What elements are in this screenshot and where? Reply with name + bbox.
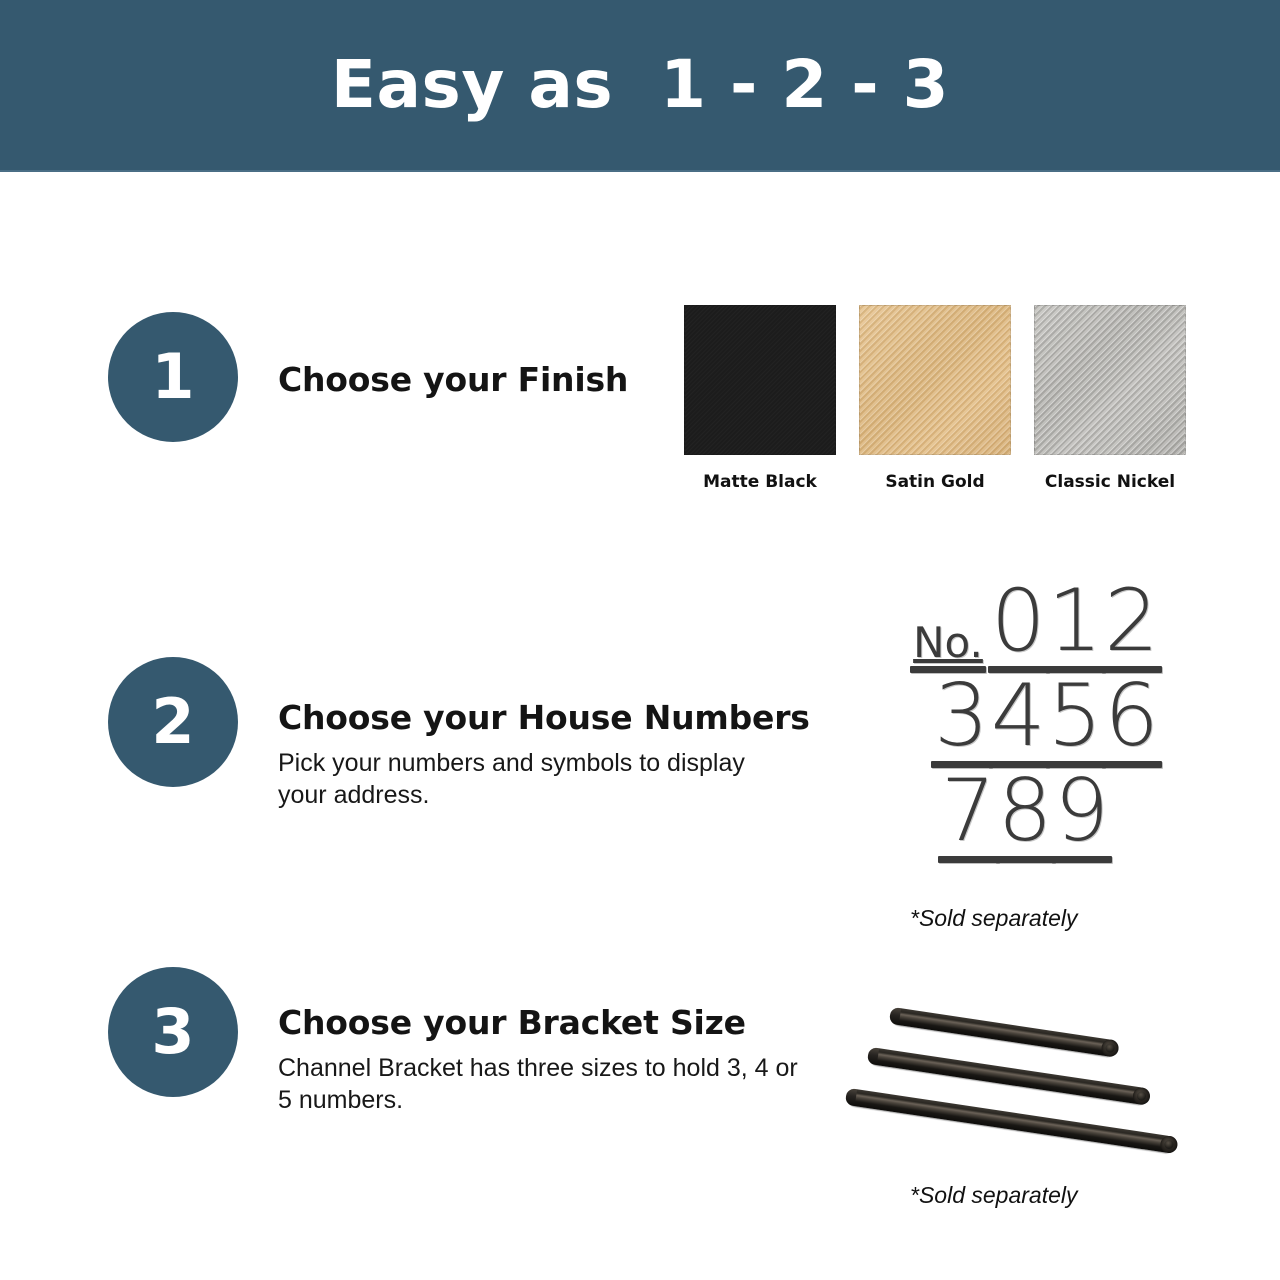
step-3-text-block: Choose your Bracket Size Channel Bracket… (278, 1003, 798, 1116)
channel-bracket-illustration (840, 995, 1180, 1160)
matte-black-label: Matte Black (703, 472, 817, 492)
number-glyph-6[interactable]: 6 (1103, 677, 1160, 768)
step-2-body: Pick your numbers and symbols to display… (278, 747, 798, 811)
step-3-heading: Choose your Bracket Size (278, 1003, 798, 1042)
number-glyph-8[interactable]: 8 (997, 772, 1054, 863)
number-glyph-5[interactable]: 5 (1047, 677, 1104, 768)
step-3-number-badge: 3 (108, 967, 238, 1097)
finish-swatch-row: Matte Black Satin Gold Classic Nickel (684, 305, 1186, 492)
infographic-page: Easy as 1 - 2 - 3 1 Choose your Finish M… (0, 0, 1280, 1280)
numero-symbol-text: No. (913, 618, 983, 667)
satin-gold-swatch[interactable] (859, 305, 1011, 455)
finish-option-satin-gold[interactable]: Satin Gold (859, 305, 1011, 492)
house-numbers-illustration: No. 0 1 2 3 4 5 6 7 8 9 (900, 582, 1160, 863)
step-3-sold-separately-note: *Sold separately (910, 1182, 1078, 1209)
step-2-number-badge: 2 (108, 657, 238, 787)
classic-nickel-label: Classic Nickel (1045, 472, 1175, 492)
step-1-number-badge: 1 (108, 312, 238, 442)
step-3-body: Channel Bracket has three sizes to hold … (278, 1052, 798, 1116)
house-numbers-row-1: No. 0 1 2 (900, 582, 1160, 673)
number-glyph-3[interactable]: 3 (933, 677, 990, 768)
channel-bracket-small[interactable] (891, 1007, 1117, 1057)
house-numbers-row-2: 3 4 5 6 (900, 677, 1160, 768)
page-title: Easy as 1 - 2 - 3 (331, 52, 949, 118)
number-glyph-7[interactable]: 7 (940, 772, 997, 863)
step-1-text-block: Choose your Finish (278, 360, 628, 399)
number-glyph-1[interactable]: 1 (1047, 582, 1104, 673)
step-1-heading: Choose your Finish (278, 360, 628, 399)
step-2-sold-separately-note: *Sold separately (910, 905, 1078, 932)
number-glyph-9[interactable]: 9 (1053, 772, 1110, 863)
number-glyph-4[interactable]: 4 (990, 677, 1047, 768)
classic-nickel-swatch[interactable] (1034, 305, 1186, 455)
finish-option-classic-nickel[interactable]: Classic Nickel (1034, 305, 1186, 492)
satin-gold-label: Satin Gold (885, 472, 984, 492)
step-2-text-block: Choose your House Numbers Pick your numb… (278, 698, 810, 811)
matte-black-swatch[interactable] (684, 305, 836, 455)
bracket-bar (891, 1007, 1117, 1057)
number-glyph-0[interactable]: 0 (990, 582, 1047, 673)
house-numbers-row-3: 7 8 9 (900, 772, 1160, 863)
step-2-heading: Choose your House Numbers (278, 698, 810, 737)
number-glyph-2[interactable]: 2 (1103, 582, 1160, 673)
finish-option-matte-black[interactable]: Matte Black (684, 305, 836, 492)
header-banner: Easy as 1 - 2 - 3 (0, 0, 1280, 172)
